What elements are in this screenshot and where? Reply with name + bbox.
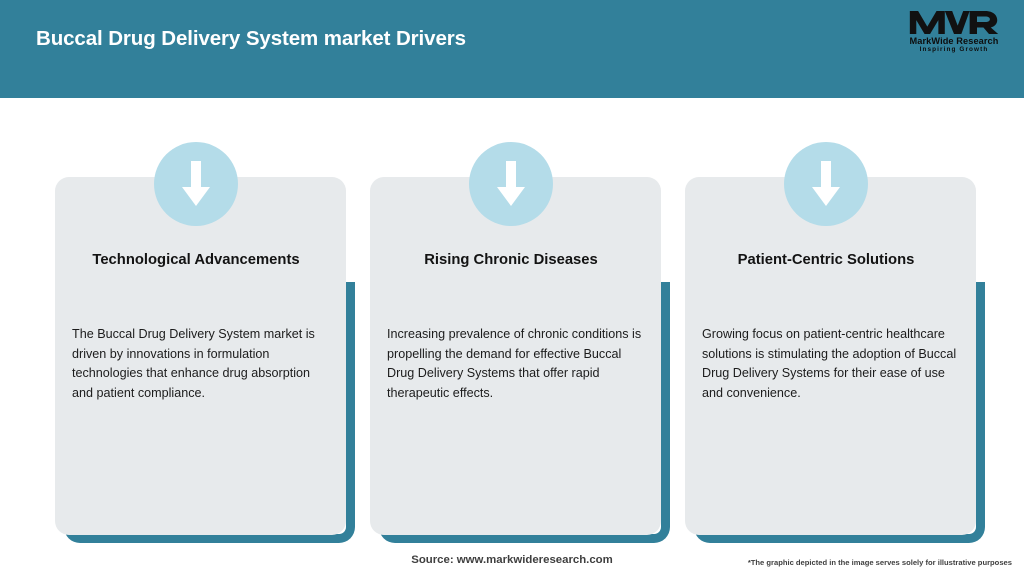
- driver-card-2: Rising Chronic Diseases Increasing preva…: [361, 98, 661, 543]
- card-body-text: Growing focus on patient-centric healthc…: [702, 325, 960, 403]
- card-title: Technological Advancements: [60, 252, 332, 268]
- page-title: Buccal Drug Delivery System market Drive…: [36, 27, 466, 51]
- driver-card-3: Patient-Centric Solutions Growing focus …: [676, 98, 976, 543]
- driver-cards-container: Technological Advancements The Buccal Dr…: [0, 98, 1024, 543]
- card-title: Patient-Centric Solutions: [690, 252, 962, 268]
- driver-card-1: Technological Advancements The Buccal Dr…: [46, 98, 346, 543]
- logo-company-name: MarkWide Research: [910, 36, 999, 46]
- card-body-text: The Buccal Drug Delivery System market i…: [72, 325, 330, 403]
- page-header: Buccal Drug Delivery System market Drive…: [0, 0, 1024, 98]
- logo-tagline: Inspiring Growth: [920, 46, 989, 54]
- brand-logo: MarkWide Research Inspiring Growth: [902, 8, 1006, 60]
- arrow-down-icon: [469, 142, 553, 226]
- card-body-text: Increasing prevalence of chronic conditi…: [387, 325, 645, 403]
- arrow-down-icon: [154, 142, 238, 226]
- disclaimer-note: *The graphic depicted in the image serve…: [748, 558, 1012, 567]
- mwr-monogram-icon: [908, 8, 1000, 36]
- card-title: Rising Chronic Diseases: [375, 252, 647, 268]
- arrow-down-icon: [784, 142, 868, 226]
